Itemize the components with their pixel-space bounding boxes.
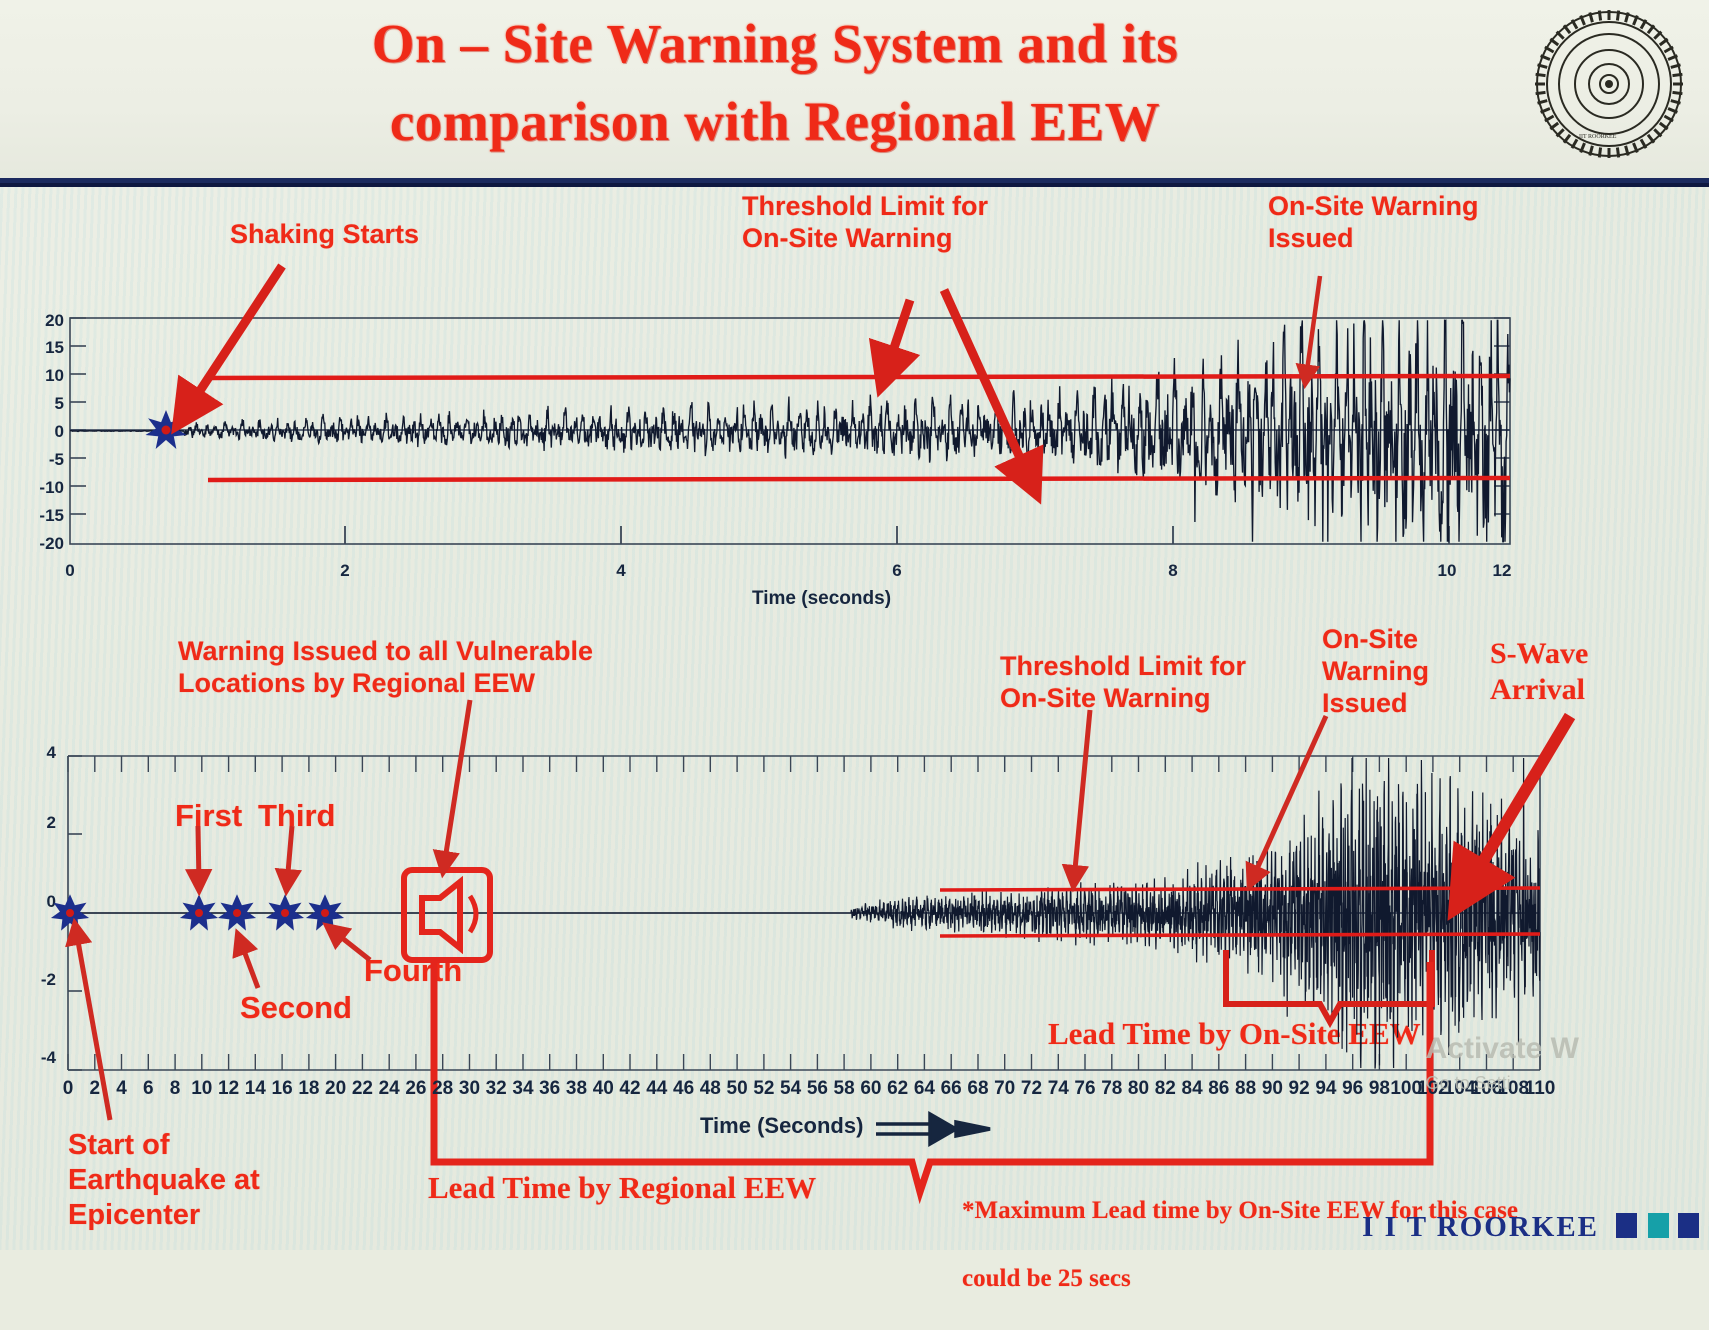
annotation-onsite-warning-issued-1: On-Site Warning Issued: [1268, 190, 1479, 254]
arrow-s-wave-arrival: [1466, 716, 1570, 890]
regional-warning-broadcast-icon: [404, 870, 490, 960]
chart2-station-marker: [222, 898, 252, 927]
arrow-onsite-warning-1: [1306, 276, 1320, 378]
chart2-threshold-lower: [940, 934, 1540, 936]
watermark-line-2: Go to Setti: [1426, 1066, 1579, 1100]
annotation-second: Second: [240, 992, 352, 1024]
page-title: On – Site Warning System and its compari…: [150, 5, 1400, 161]
arrow-threshold-limit-2: [1074, 710, 1090, 880]
chart2-ytick: -2: [18, 970, 56, 990]
annotation-s-wave-arrival: S-Wave Arrival: [1490, 636, 1588, 708]
footer-square-blue-2: [1678, 1213, 1699, 1238]
chart2-station-marker: [270, 898, 300, 927]
footnote: *Maximum Lead time by On-Site EEW for th…: [962, 1160, 1518, 1330]
chart1-threshold-lower: [208, 478, 1510, 480]
annotation-shaking-starts: Shaking Starts: [230, 218, 419, 250]
chart2-ytick: 2: [22, 813, 56, 833]
arrow-third: [287, 826, 292, 884]
arrow-regional-warning: [444, 700, 470, 866]
chart1-ytick: -20: [22, 534, 64, 554]
chart1-xaxis-label: Time (seconds): [752, 588, 891, 610]
chart1-xtick: 6: [883, 561, 911, 581]
svg-text:IIT ROORKEE: IIT ROORKEE: [1579, 134, 1617, 140]
slide-header: On – Site Warning System and its compari…: [0, 0, 1709, 187]
chart1-frame: [70, 318, 1510, 544]
chart2-station-marker: [184, 898, 214, 927]
slide-root: On – Site Warning System and its compari…: [0, 0, 1709, 1250]
footer-organization: I I T ROORKEE: [1362, 1211, 1599, 1244]
chart1-threshold-upper: [208, 376, 1510, 378]
arrow-threshold-limit-1: [886, 300, 910, 372]
arrow-onsite-warning-2: [1252, 716, 1326, 880]
arrow-first: [198, 826, 199, 884]
windows-activation-watermark: Activate W Go to Setti: [1426, 1032, 1579, 1100]
bracket-lead-time-regional: [434, 962, 1430, 1192]
chart2-ytick: 0: [22, 892, 56, 912]
chart1-ytick: 5: [26, 394, 64, 414]
chart2-epicenter-marker: [55, 898, 85, 927]
footer-square-teal: [1648, 1213, 1669, 1238]
title-line-2: comparison with Regional EEW: [390, 91, 1160, 152]
chart1-xtick: 12: [1488, 561, 1516, 581]
footnote-line-2: could be 25 secs: [962, 1262, 1518, 1296]
chart2-ytick: -4: [18, 1048, 56, 1068]
chart1-xtick: 0: [56, 561, 84, 581]
annotation-third: Third: [258, 800, 336, 832]
chart1-ytick: 0: [26, 422, 64, 442]
bracket-lead-time-onsite: [1226, 950, 1432, 1022]
chart2-yticks: [68, 756, 82, 1070]
annotation-regional-warning: Warning Issued to all Vulnerable Locatio…: [178, 635, 593, 699]
iit-roorkee-emblem-icon: IIT ROORKEE: [1533, 8, 1685, 160]
annotation-threshold-limit-2: Threshold Limit for On-Site Warning: [1000, 650, 1246, 714]
time-direction-arrow-icon: [876, 1114, 990, 1144]
arrow-warning-issued-line: [944, 290, 1030, 480]
chart1-yticks: [70, 318, 1510, 514]
chart1-acceleration-trace: [70, 320, 1510, 541]
chart2-threshold-upper: [940, 888, 1540, 890]
chart1-ytick: -10: [22, 478, 64, 498]
annotation-lead-time-onsite: Lead Time by On-Site EEW: [1048, 1018, 1421, 1050]
annotation-start-of-earthquake: Start of Earthquake at Epicenter: [68, 1128, 260, 1233]
chart1-ytick: 10: [26, 366, 64, 386]
footer-square-blue-1: [1616, 1213, 1637, 1238]
arrow-onsite-warning-issued-1b: [1298, 272, 1310, 378]
annotation-fourth: Fourth: [364, 955, 462, 987]
chart1-xticks: [345, 526, 1449, 544]
chart1-ytick: -5: [26, 450, 64, 470]
annotation-onsite-warning-issued-2: On-Site Warning Issued: [1322, 623, 1429, 719]
chart1-shaking-start-marker: [150, 414, 182, 445]
annotation-lead-time-regional: Lead Time by Regional EEW: [428, 1172, 816, 1204]
chart1-ytick: 20: [26, 311, 64, 331]
chart2-ytick: 4: [22, 743, 56, 763]
chart2-station-marker: [310, 898, 340, 927]
chart1-xtick: 10: [1433, 561, 1461, 581]
title-line-1: On – Site Warning System and its: [372, 13, 1179, 74]
chart1-xtick: 4: [607, 561, 635, 581]
chart1-xtick: 2: [331, 561, 359, 581]
annotation-threshold-limit-1: Threshold Limit for On-Site Warning: [742, 190, 988, 254]
arrow-second: [240, 940, 258, 988]
chart1-xtick: 8: [1159, 561, 1187, 581]
watermark-line-1: Activate W: [1426, 1032, 1579, 1065]
chart1-ytick: 15: [26, 338, 64, 358]
arrow-shaking-starts: [186, 266, 282, 412]
annotation-first: First: [175, 800, 242, 832]
chart2-xaxis-label: Time (Seconds): [700, 1113, 863, 1139]
chart1-ytick: -15: [22, 506, 64, 526]
